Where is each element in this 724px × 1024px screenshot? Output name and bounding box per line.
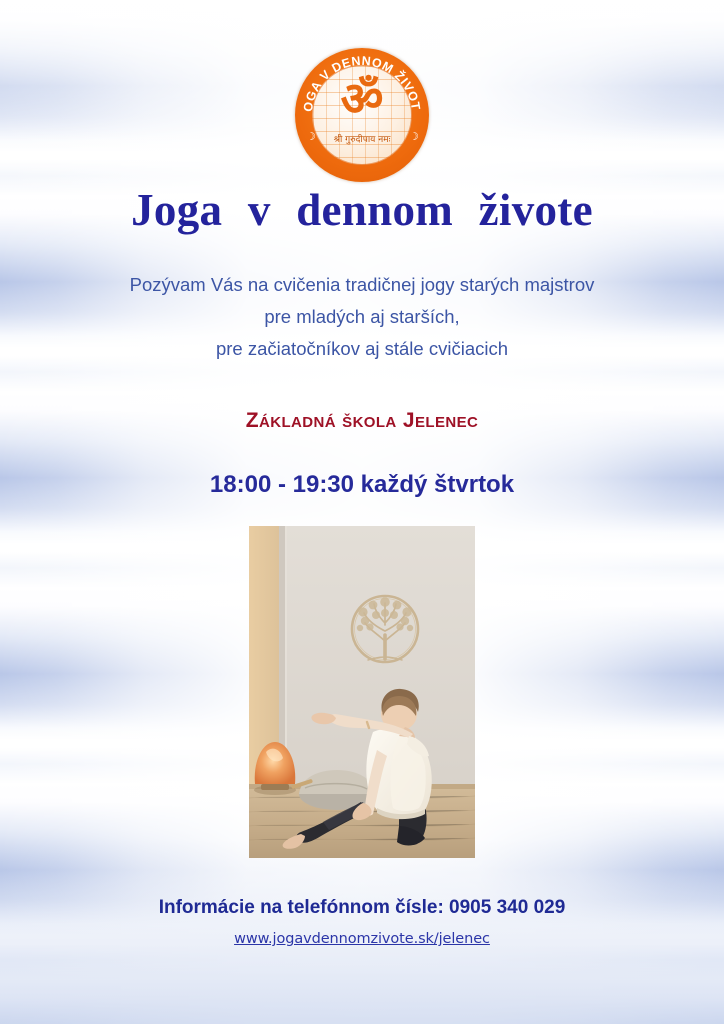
om-icon: ॐ (295, 76, 429, 123)
poster-content: JOGA V DENNOM ŽIVOTE SYSTÉM ॐ श्री गुरुद… (0, 0, 724, 1024)
crescent-left-icon: ☽ (306, 132, 315, 141)
poster-root: JOGA V DENNOM ŽIVOTE SYSTÉM ॐ श्री गुरुद… (0, 0, 724, 1024)
contact-phone: Informácie na telefónnom čísle: 0905 340… (0, 897, 724, 919)
schedule-time: 18:00 - 19:30 každý štvrtok (0, 471, 724, 499)
website-link[interactable]: www.jogavdennomzivote.sk/jelenec (0, 931, 724, 947)
intro-paragraph: Pozývam Vás na cvičenia tradičnej jogy s… (0, 269, 724, 365)
intro-line-1: Pozývam Vás na cvičenia tradičnej jogy s… (0, 269, 724, 301)
page-title: Joga v dennom živote (0, 183, 724, 237)
yoga-photo (249, 526, 475, 858)
yoga-photo-illustration (249, 526, 475, 858)
crescent-right-icon: ☽ (409, 132, 418, 141)
venue-name: Základná škola Jelenec (0, 409, 724, 433)
intro-line-2: pre mladých aj starších, (0, 301, 724, 333)
joga-v-dennom-zivote-logo-icon: JOGA V DENNOM ŽIVOTE SYSTÉM ॐ श्री गुरुद… (295, 48, 429, 182)
intro-line-3: pre začiatočníkov aj stále cvičiacich (0, 333, 724, 365)
logo-container: JOGA V DENNOM ŽIVOTE SYSTÉM ॐ श्री गुरुद… (0, 48, 724, 182)
